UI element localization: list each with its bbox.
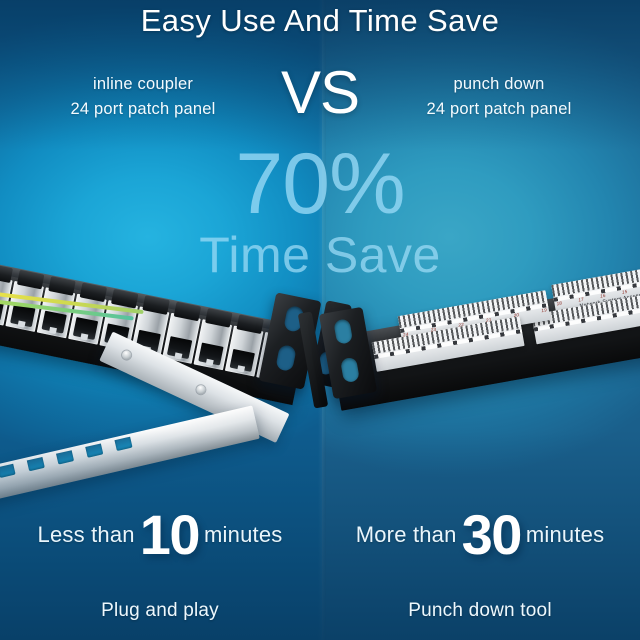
comparison-infographic: 18 17 16 15 14 13 Network System Accesso… — [0, 0, 640, 640]
rail-notch — [85, 443, 103, 457]
screw — [195, 384, 207, 396]
screw — [121, 349, 133, 361]
page-title: Easy Use And Time Save — [0, 3, 640, 39]
rack-mount-hole — [333, 318, 353, 344]
right-claim: More than 30 minutes — [320, 505, 640, 565]
rail-notch — [27, 457, 45, 471]
rail-notch-row — [0, 437, 133, 485]
right-product-label-line1: punch down — [454, 75, 545, 93]
left-product-label-line1: inline coupler — [93, 75, 193, 93]
left-product-label: inline coupler 24 port patch panel — [8, 72, 278, 122]
left-claim-prefix: Less than — [38, 522, 135, 548]
left-claim: Less than 10 minutes — [0, 505, 320, 565]
rail-notch — [56, 450, 74, 464]
right-footer-label: Punch down tool — [320, 600, 640, 622]
right-claim-suffix: minutes — [526, 522, 604, 548]
vs-divider-label: VS — [268, 63, 372, 123]
product-image-punch-down-panel: 18 17 16 15 14 13 Network System Accesso… — [320, 262, 640, 482]
left-claim-suffix: minutes — [204, 522, 282, 548]
left-product-label-line2: 24 port patch panel — [8, 97, 278, 122]
front-mounting-rail — [0, 405, 260, 506]
rack-mount-hole — [275, 344, 297, 372]
rail-notch — [0, 464, 16, 478]
time-save-percent: 70% — [0, 140, 640, 228]
rail-notch — [114, 437, 132, 451]
right-product-label: punch down 24 port patch panel — [364, 72, 634, 122]
rack-ear-near — [319, 307, 377, 399]
left-footer-label: Plug and play — [0, 600, 320, 622]
right-claim-prefix: More than — [356, 522, 457, 548]
left-claim-number: 10 — [140, 507, 199, 563]
time-save-caption: Time Save — [0, 228, 640, 282]
right-product-label-line2: 24 port patch panel — [364, 97, 634, 122]
rack-mount-hole — [340, 357, 360, 383]
right-claim-number: 30 — [462, 507, 521, 563]
